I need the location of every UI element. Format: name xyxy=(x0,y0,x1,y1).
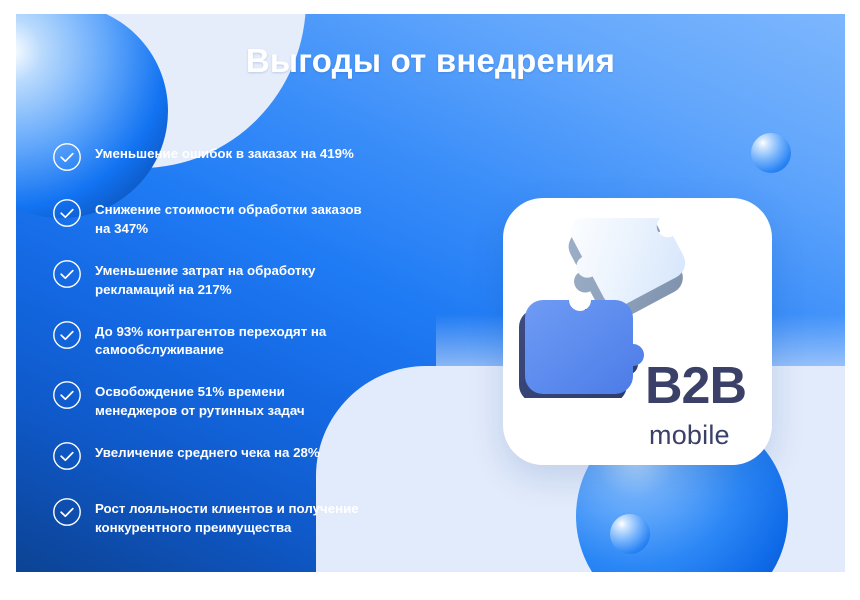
list-item: Уменьшение ошибок в заказах на 419% xyxy=(52,140,472,178)
circle-check-icon xyxy=(52,142,82,172)
brand-subtitle: mobile xyxy=(649,422,730,449)
circle-check-icon xyxy=(52,259,82,289)
slide-canvas: Выгоды от внедрения Уменьшение ошибок в … xyxy=(16,14,845,572)
list-item: Уменьшение затрат на обработку рекламаци… xyxy=(52,257,472,300)
list-item-label: Снижение стоимости обработки заказов на … xyxy=(95,196,362,239)
list-item: Освобождение 51% времени менеджеров от р… xyxy=(52,378,472,421)
decorative-sphere-small-top-right xyxy=(751,133,791,173)
list-item-label: Уменьшение затрат на обработку рекламаци… xyxy=(95,257,315,300)
list-item: Рост лояльности клиентов и получение кон… xyxy=(52,495,472,538)
list-item: До 93% контрагентов переходят на самообс… xyxy=(52,318,472,361)
list-item-label: Освобождение 51% времени менеджеров от р… xyxy=(95,378,305,421)
benefits-list: Уменьшение ошибок в заказах на 419% Сниж… xyxy=(52,140,472,538)
circle-check-icon xyxy=(52,320,82,350)
page-title: Выгоды от внедрения xyxy=(16,42,845,80)
decorative-sphere-small-bottom-right xyxy=(610,514,650,554)
brand-name: B2B xyxy=(645,360,746,412)
list-item: Увеличение среднего чека на 28% xyxy=(52,439,472,477)
list-item-label: Рост лояльности клиентов и получение кон… xyxy=(95,495,359,538)
circle-check-icon xyxy=(52,198,82,228)
circle-check-icon xyxy=(52,497,82,527)
circle-check-icon xyxy=(52,441,82,471)
circle-check-icon xyxy=(52,380,82,410)
brand-logo-card: B2B mobile xyxy=(503,198,772,465)
list-item-label: Уменьшение ошибок в заказах на 419% xyxy=(95,140,354,164)
list-item-label: Увеличение среднего чека на 28% xyxy=(95,439,320,463)
list-item-label: До 93% контрагентов переходят на самообс… xyxy=(95,318,326,361)
list-item: Снижение стоимости обработки заказов на … xyxy=(52,196,472,239)
